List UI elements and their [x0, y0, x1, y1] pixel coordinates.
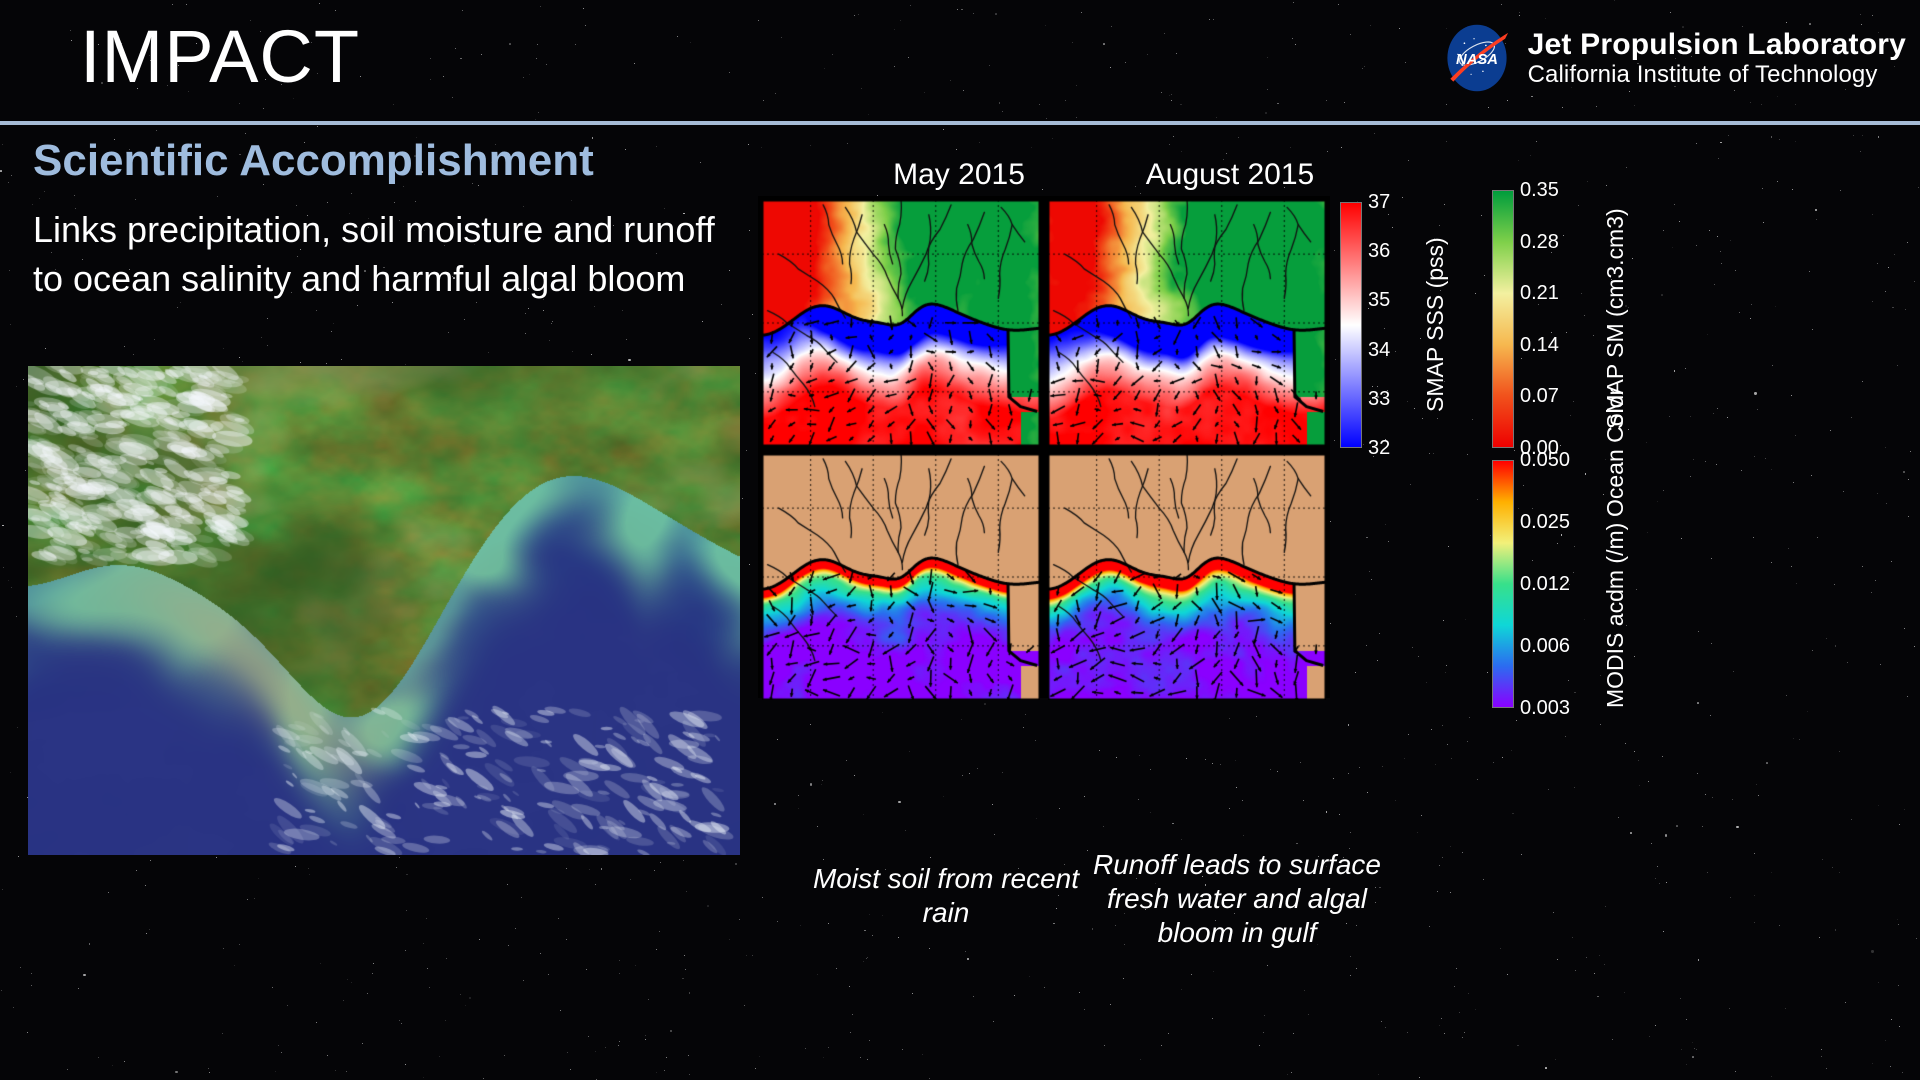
gulf-of-mexico-satellite-photo [28, 366, 740, 855]
colorbar-smap-sss-gradient [1340, 202, 1362, 448]
nasa-wordmark: NASA [1456, 52, 1498, 68]
map-panel-grid [758, 196, 1330, 698]
caption-august: Runoff leads to surface fresh water and … [1072, 848, 1402, 950]
slide-header: IMPACT NASA [0, 0, 1920, 123]
jpl-wordmark: Jet Propulsion Laboratory California Ins… [1528, 29, 1906, 88]
page-title: IMPACT [80, 14, 360, 100]
colorbar-smap-sss-label: SMAP SSS (pss) [1422, 202, 1449, 448]
colorbar-modis-acdm-label: MODIS acdm (/m)Ocean Color [1602, 460, 1629, 708]
colorbar-modis-acdm-gradient [1492, 460, 1514, 708]
colorbar-smap-sm: 0.350.280.210.140.070.00 SMAP SM (cm3.cm… [1492, 190, 1672, 452]
science-figure: May 2015 August 2015 373635343332 SMAP S… [752, 150, 1912, 1030]
caption-may: Moist soil from recent rain [792, 862, 1100, 930]
map-panel-oceancolor-august [1048, 454, 1326, 700]
section-body-text: Links precipitation, soil moisture and r… [33, 205, 733, 303]
header-divider [0, 121, 1920, 125]
panel-title-may: May 2015 [814, 158, 1104, 192]
gulf-photo-canvas [28, 366, 740, 855]
jpl-title-line: Jet Propulsion Laboratory [1528, 29, 1906, 61]
map-panel-sss-august [1048, 200, 1326, 446]
left-content-column: Scientific Accomplishment Links precipit… [33, 135, 733, 303]
nasa-meatball-icon: NASA [1440, 21, 1514, 95]
section-heading: Scientific Accomplishment [33, 135, 733, 187]
colorbar-modis-acdm: 0.0500.0250.0120.0060.003 MODIS acdm (/m… [1492, 460, 1672, 710]
colorbar-smap-sss: 373635343332 SMAP SSS (pss) [1340, 202, 1490, 450]
panel-title-august: August 2015 [1070, 158, 1390, 192]
map-panel-sss-may [762, 200, 1040, 446]
map-panel-oceancolor-may [762, 454, 1040, 700]
colorbar-smap-sm-gradient [1492, 190, 1514, 448]
nasa-jpl-logo: NASA Jet Propulsion Laboratory Californi… [1440, 18, 1906, 98]
jpl-subtitle-line: California Institute of Technology [1528, 62, 1906, 87]
slide-root: IMPACT NASA [0, 0, 1920, 1080]
